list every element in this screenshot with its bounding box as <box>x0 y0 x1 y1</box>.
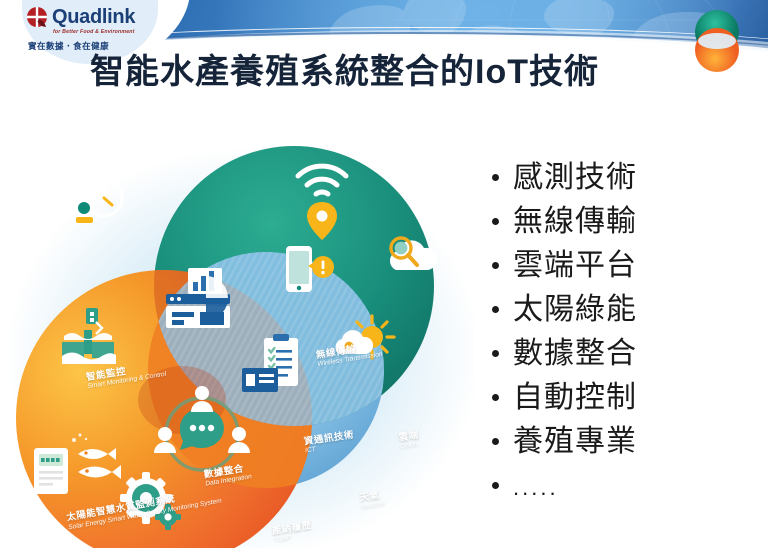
bullet-label: 雲端平台 <box>513 246 637 286</box>
list-item: 自動控制 <box>492 378 760 418</box>
venn-diagram: 智能監控 Smart Monitoring & Control 無線傳輸 Wir… <box>4 138 474 548</box>
quadlink-logo-icon <box>26 6 48 28</box>
header-banner: Quadlink for Better Food & Environment 實… <box>0 0 768 118</box>
bullet-dot-icon <box>492 174 499 181</box>
page-title: 智能水產養殖系統整合的IoT技術 <box>90 44 599 93</box>
list-item: 養殖專業 <box>492 422 760 462</box>
slide-root: Quadlink for Better Food & Environment 實… <box>0 0 768 548</box>
list-item: 無線傳輸 <box>492 202 760 242</box>
bullet-dot-icon <box>492 218 499 225</box>
bullet-dot-icon <box>492 262 499 269</box>
bullet-label: 數據整合 <box>513 334 637 374</box>
bullet-label: 養殖專業 <box>513 422 637 462</box>
brand-name: Quadlink <box>52 7 135 27</box>
bullet-dot-icon <box>492 306 499 313</box>
list-item: 雲端平台 <box>492 246 760 286</box>
brand-subtitle: for Better Food & Environment <box>53 29 176 35</box>
bullet-label: 無線傳輸 <box>513 202 637 242</box>
bullet-dot-icon <box>492 438 499 445</box>
bullet-dot-icon <box>492 482 499 489</box>
bullet-dot-icon <box>492 394 499 401</box>
list-item: 數據整合 <box>492 334 760 374</box>
bullet-label: ..... <box>513 466 559 510</box>
venn-circles-icon <box>684 8 750 74</box>
bullet-label: 自動控制 <box>513 378 637 418</box>
list-item: 感測技術 <box>492 158 760 198</box>
bullet-dot-icon <box>492 350 499 357</box>
list-item: 太陽綠能 <box>492 290 760 330</box>
bullet-label: 太陽綠能 <box>513 290 637 330</box>
bullet-label: 感測技術 <box>513 158 637 198</box>
feature-bullet-list: 感測技術 無線傳輸 雲端平台 太陽綠能 數據整合 自動控制 養殖專業 .... <box>492 158 760 514</box>
list-item: ..... <box>492 466 760 510</box>
